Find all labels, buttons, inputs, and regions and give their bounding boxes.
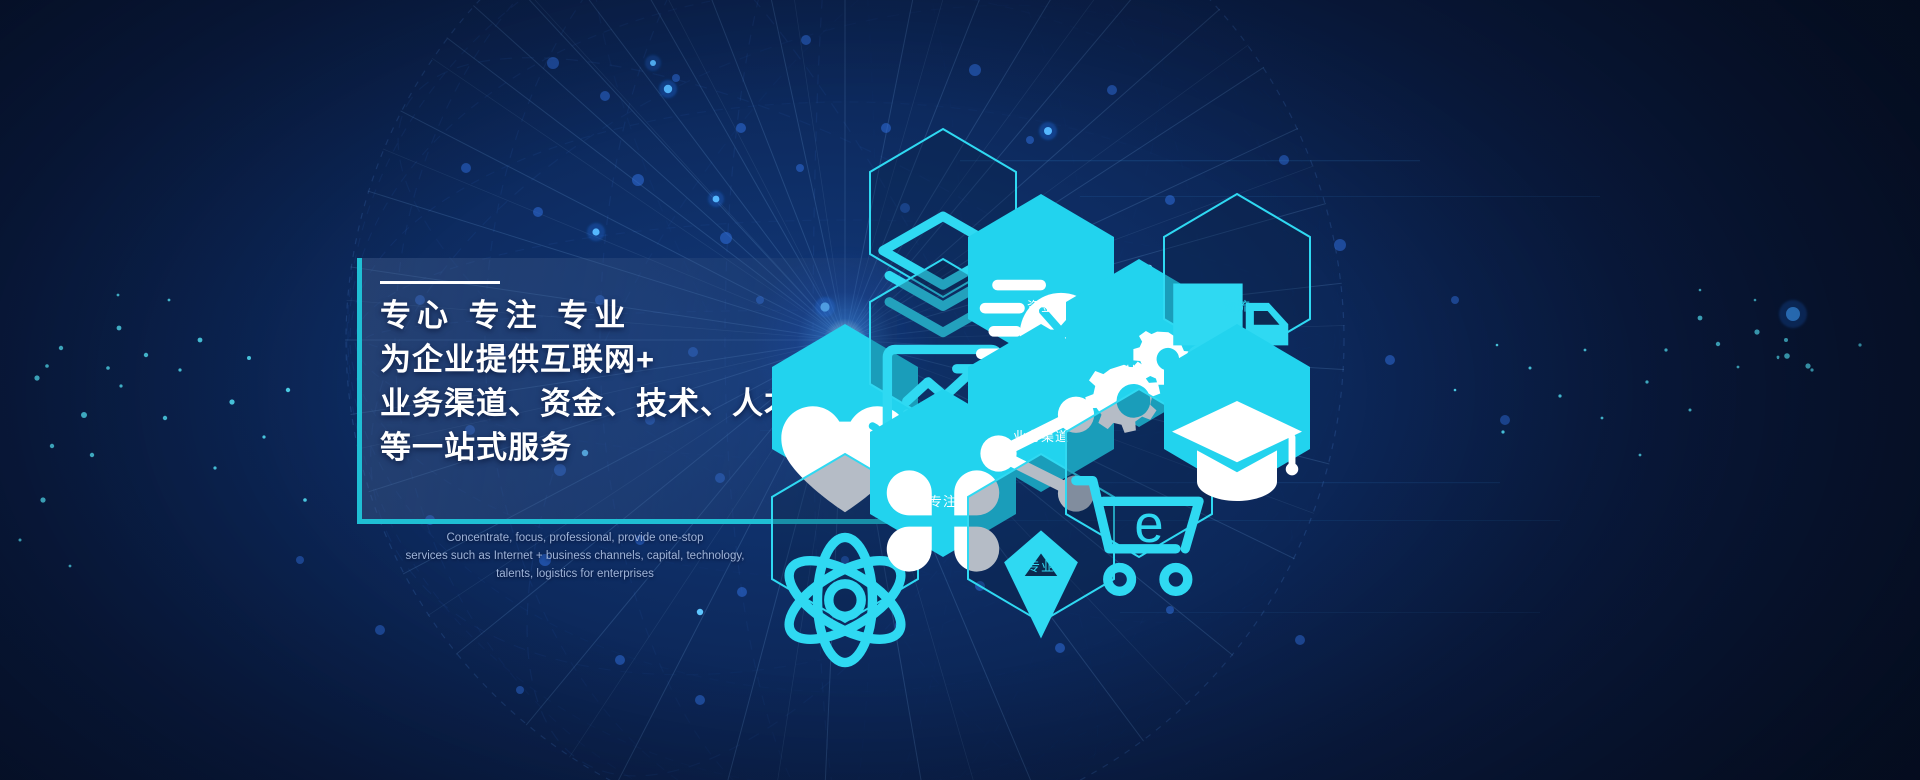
banner-stage: 专心 专注 专业 为企业提供互联网+ 业务渠道、资金、技术、人才、物流 等一站式… [0, 0, 1920, 780]
svg-text:e: e [1134, 495, 1163, 554]
hexagon-feature-grid: 专心专注资金业务渠道专业技术e物流人才 [0, 0, 1920, 780]
hex-cell-人才[interactable]: 人才 [1162, 322, 1312, 494]
